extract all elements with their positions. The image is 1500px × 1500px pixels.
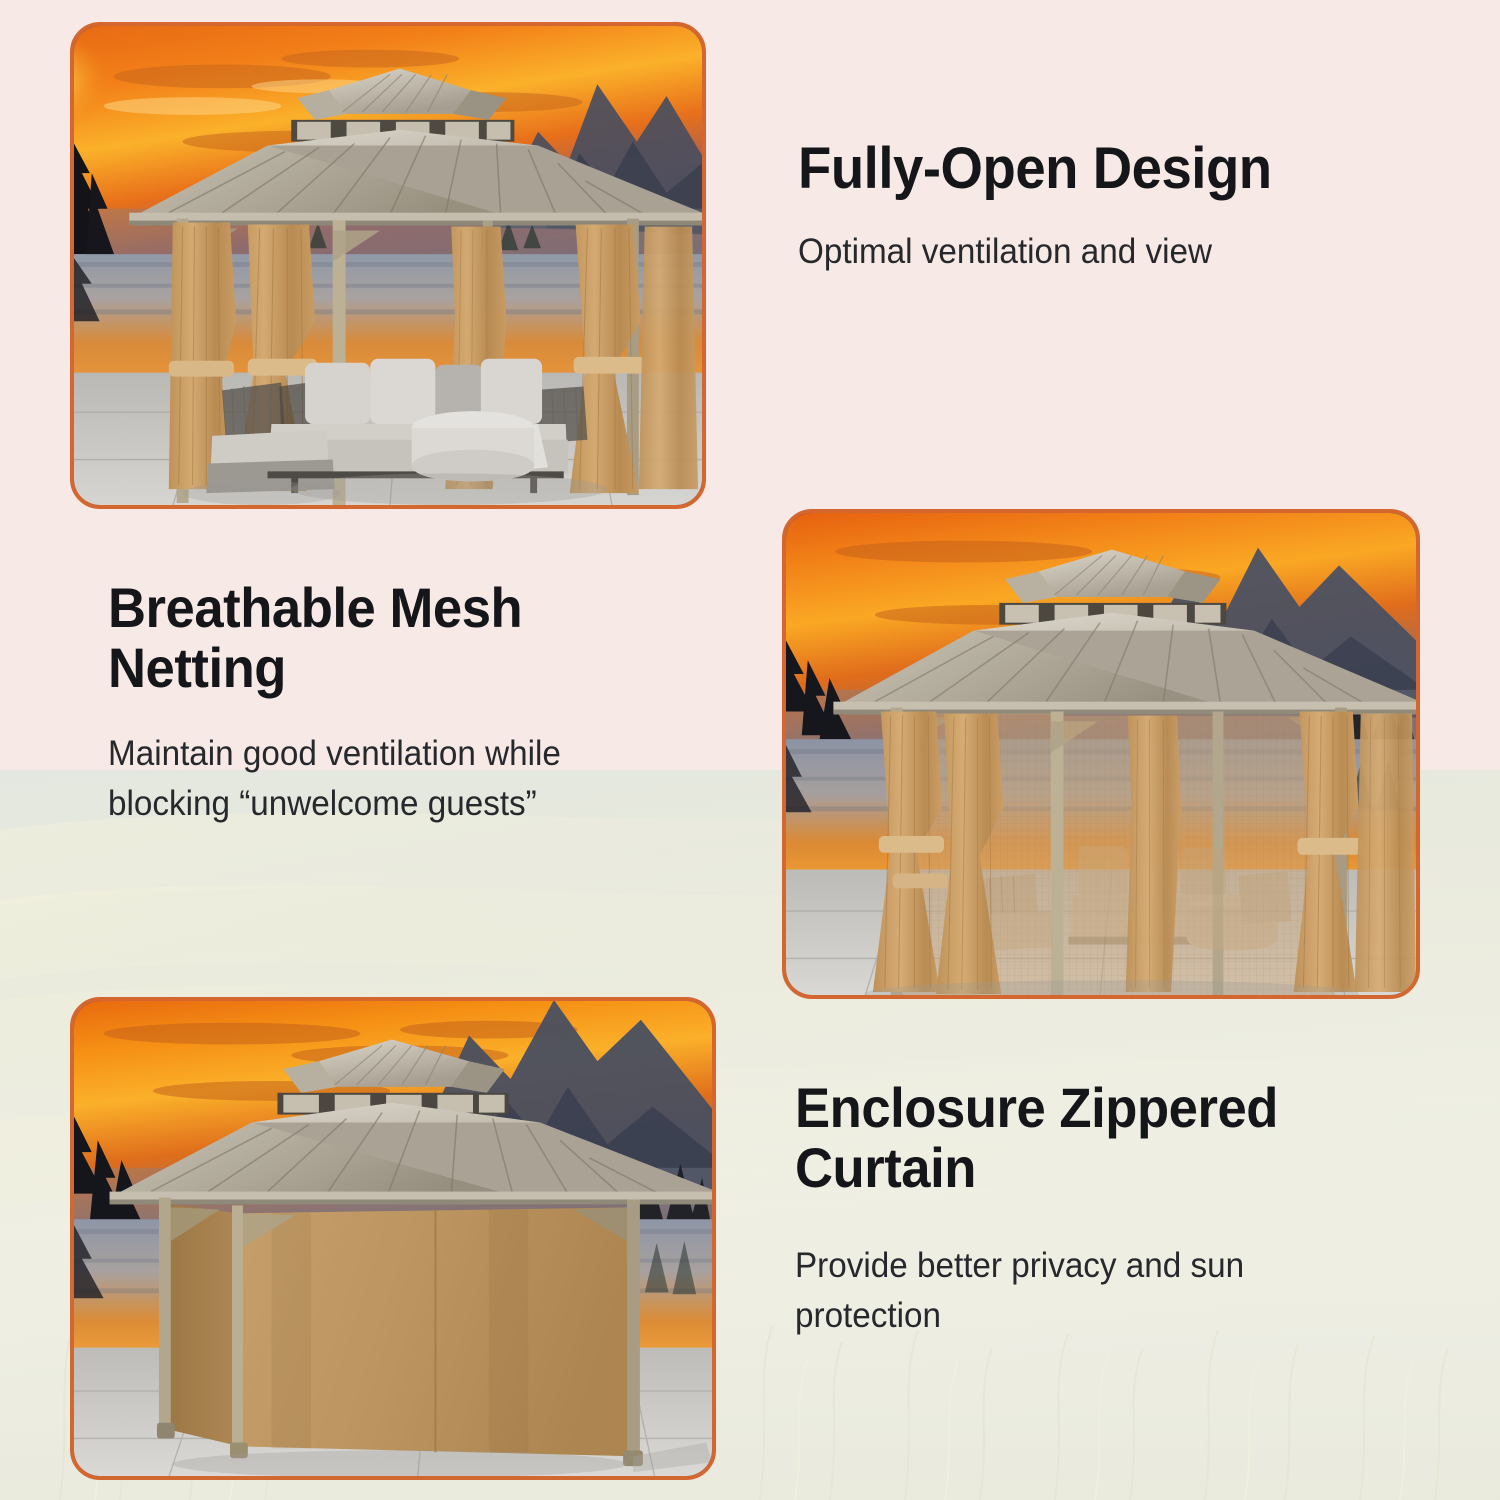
feature-subtext-line-2: protection	[795, 1291, 1422, 1341]
gazebo-with-mesh-netting-closed-image	[786, 513, 1416, 995]
feature-subtext-fully-open: Optimal ventilation and view	[798, 227, 1425, 277]
feature-heading-line-2: Curtain	[795, 1138, 1415, 1198]
feature-heading-line-1: Breathable Mesh	[108, 578, 710, 638]
feature-heading-line-1: Enclosure Zippered	[795, 1078, 1415, 1138]
feature-heading-line-2: Netting	[108, 638, 710, 698]
feature-text-enclosed-curtain: Enclosure Zippered Curtain Provide bette…	[795, 1078, 1455, 1340]
feature-text-mesh-netting: Breathable Mesh Netting Maintain good ve…	[108, 578, 748, 828]
feature-subtext-enclosed-curtain: Provide better privacy and sun protectio…	[795, 1241, 1422, 1340]
feature-heading-fully-open: Fully-Open Design	[798, 138, 1418, 201]
gazebo-open-with-tied-curtains-image	[74, 26, 702, 505]
feature-subtext-line-1: Provide better privacy and sun	[795, 1241, 1422, 1291]
feature-subtext-mesh-netting: Maintain good ventilation while blocking…	[108, 729, 716, 828]
feature-subtext-line-2: blocking “unwelcome guests”	[108, 779, 716, 829]
feature-text-fully-open: Fully-Open Design Optimal ventilation an…	[798, 138, 1458, 276]
feature-subtext-line-1: Maintain good ventilation while	[108, 729, 716, 779]
feature-image-card-fully-open	[70, 22, 706, 509]
feature-image-card-mesh-netting	[782, 509, 1420, 999]
feature-image-card-enclosed-curtain	[70, 997, 716, 1480]
feature-heading-enclosed-curtain: Enclosure Zippered Curtain	[795, 1078, 1415, 1199]
feature-heading-mesh-netting: Breathable Mesh Netting	[108, 578, 710, 699]
gazebo-fully-enclosed-curtains-image	[74, 1001, 712, 1476]
